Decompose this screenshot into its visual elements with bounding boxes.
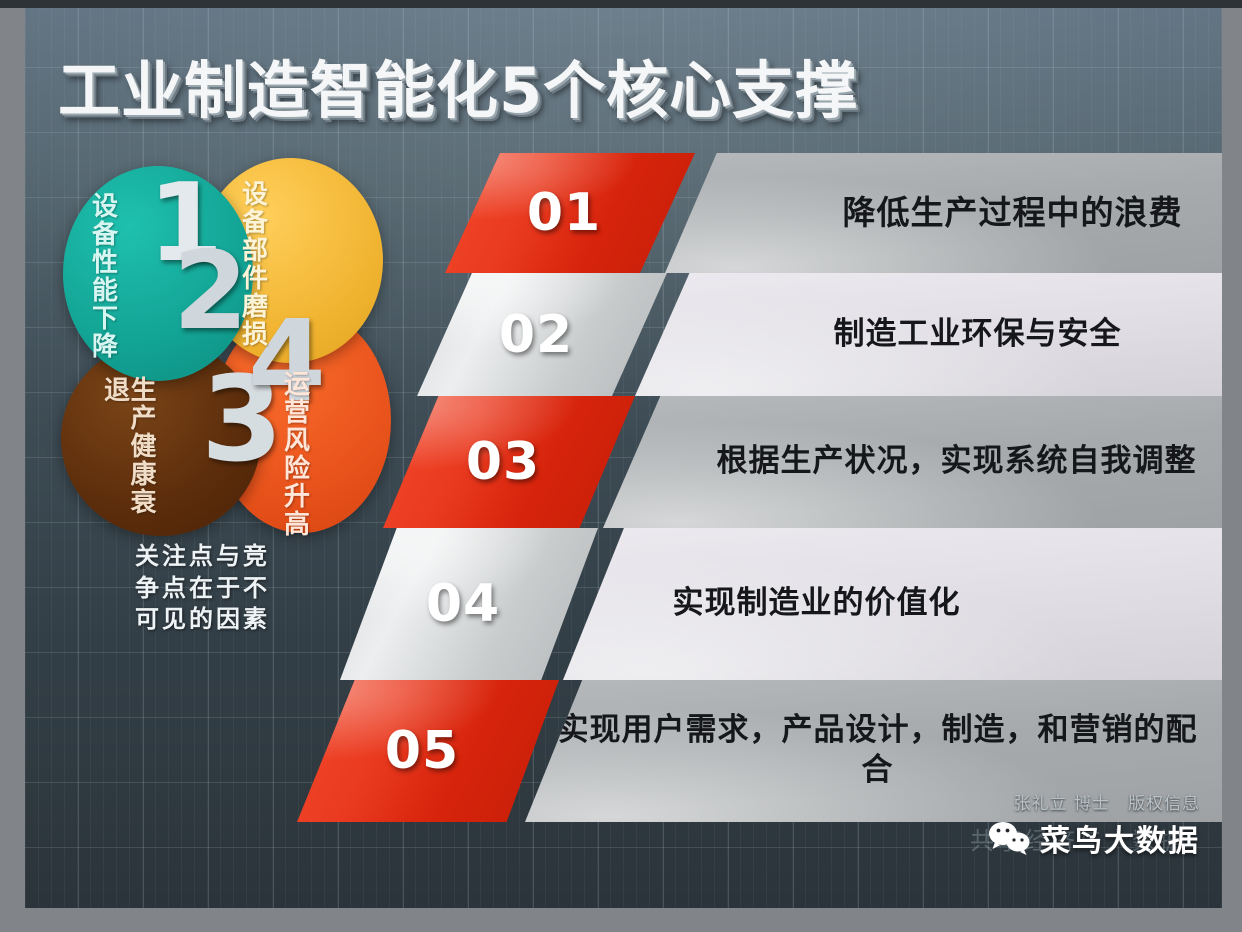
row-number-05: 05 [385, 721, 459, 781]
circle-number-2: 2 [173, 238, 248, 346]
row-text-02: 制造工业环保与安全 [635, 315, 1222, 355]
wechat-account[interactable]: 菜鸟大数据 [988, 816, 1200, 860]
circle-label-performance-drop: 设备性能下降 [89, 192, 116, 372]
row-number-block-02[interactable]: 02 [417, 273, 667, 396]
circle-label-operation-risk: 运营风险升高 [281, 370, 308, 545]
row-text-05: 实现用户需求，产品设计，制造，和营销的配合 [525, 711, 1222, 790]
row-number-01: 01 [527, 183, 601, 243]
row-number-block-03[interactable]: 03 [383, 396, 635, 528]
row-number-block-05[interactable]: 05 [297, 680, 559, 822]
slide-canvas: 工业制造智能化5个核心支撑 1 2 3 4 设备性能下降 设备部件磨损 生产健康… [25, 8, 1222, 908]
copyright-line: 张礼立 博士 版权信息 [988, 789, 1200, 814]
footer: 张礼立 博士 版权信息 菜鸟大数据 [988, 789, 1200, 860]
row-number-block-01[interactable]: 01 [445, 153, 695, 273]
circle-cluster: 1 2 3 4 设备性能下降 设备部件磨损 生产健康衰退 运营风险升高 [53, 158, 383, 558]
row-panel-03: 根据生产状况，实现系统自我调整 [603, 396, 1222, 528]
row-text-01: 降低生产过程中的浪费 [665, 192, 1222, 234]
frame-top-bar [0, 0, 1242, 8]
row-number-04: 04 [426, 574, 500, 634]
row-text-04: 实现制造业的价值化 [563, 584, 1222, 624]
circle-label-part-wear: 设备部件磨损 [239, 180, 266, 370]
row-panel-02: 制造工业环保与安全 [635, 273, 1222, 396]
row-number-02: 02 [499, 305, 573, 365]
row-number-03: 03 [466, 432, 540, 492]
circle-label-health-decline: 生产健康衰退 [101, 376, 154, 526]
row-number-block-04[interactable]: 04 [340, 528, 598, 680]
wechat-icon [988, 820, 1032, 856]
row-panel-01: 降低生产过程中的浪费 [665, 153, 1222, 273]
support-row-04[interactable]: 实现制造业的价值化 04 [25, 528, 1222, 680]
slide-stage: 工业制造智能化5个核心支撑 1 2 3 4 设备性能下降 设备部件磨损 生产健康… [0, 0, 1242, 932]
row-text-03: 根据生产状况，实现系统自我调整 [603, 442, 1222, 482]
wechat-account-name: 菜鸟大数据 [1040, 816, 1200, 860]
row-panel-04: 实现制造业的价值化 [563, 528, 1222, 680]
